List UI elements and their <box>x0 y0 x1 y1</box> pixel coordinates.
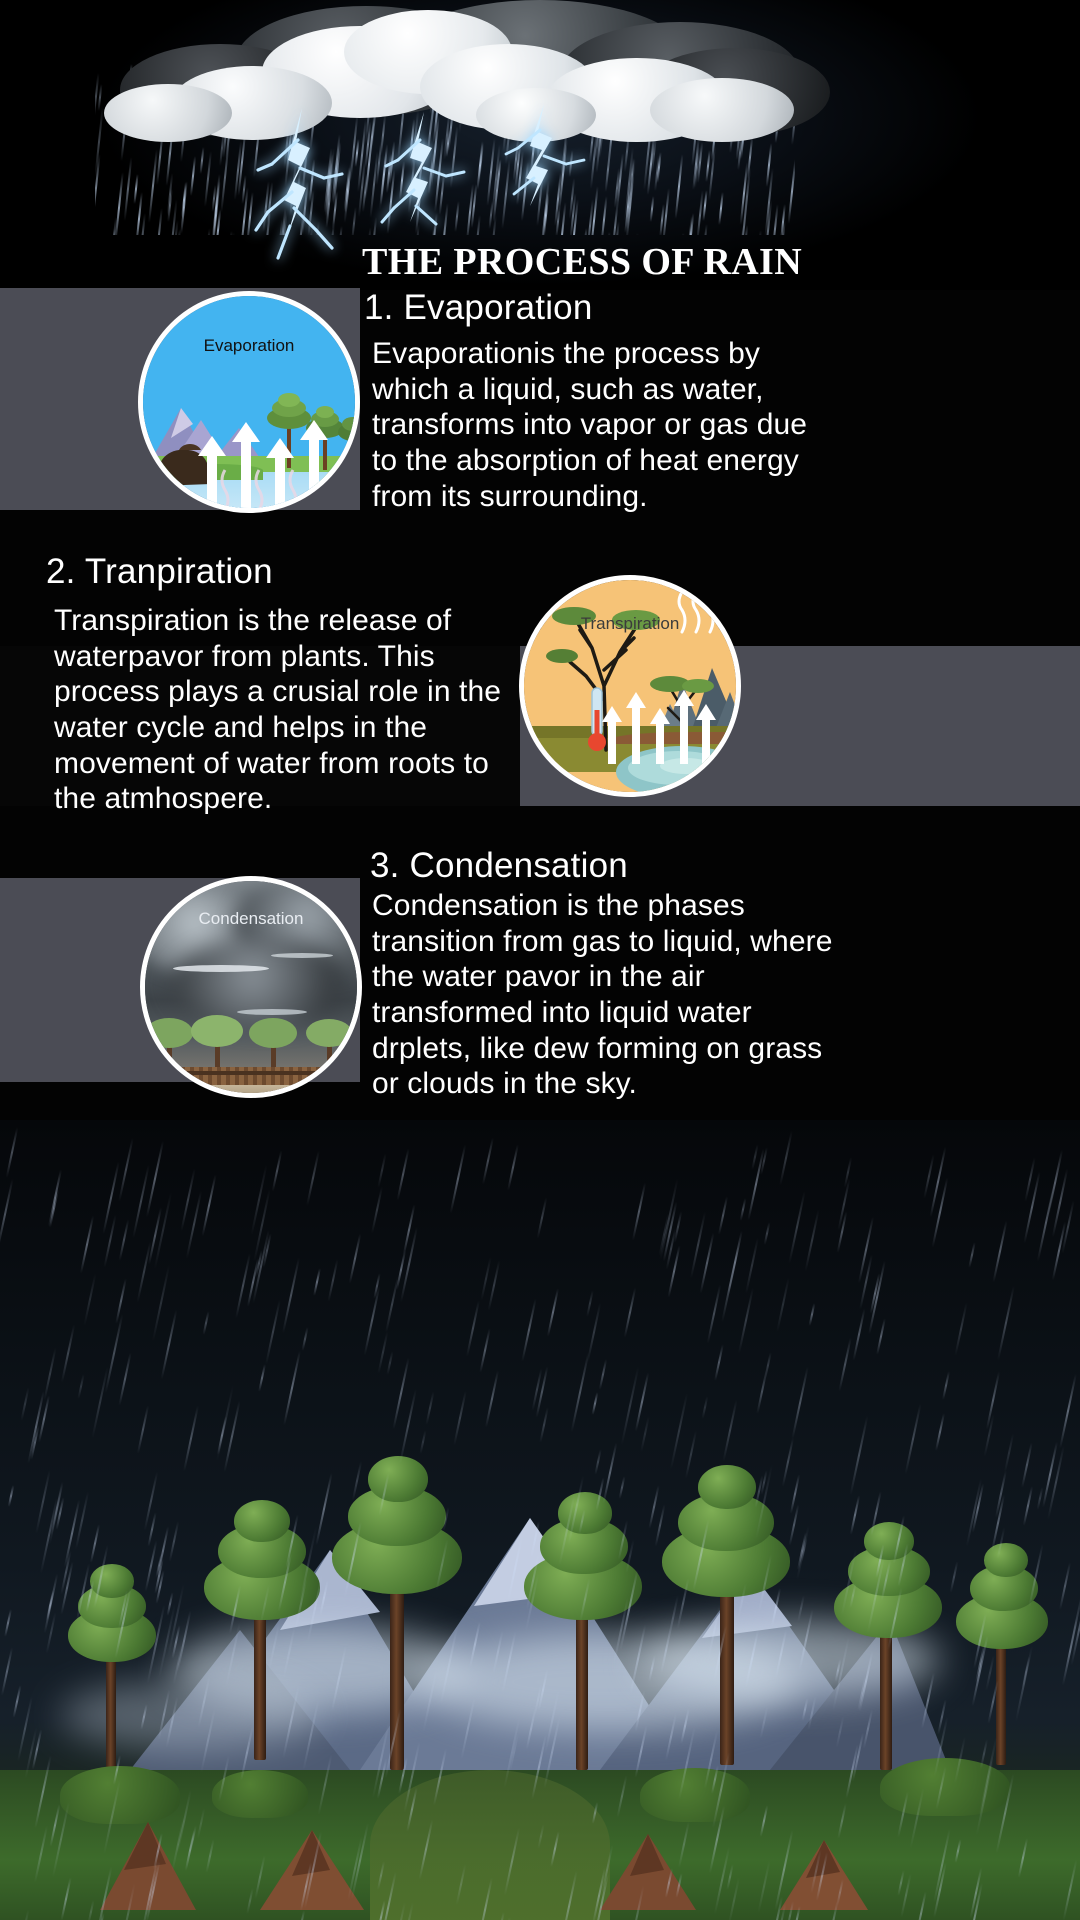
path <box>145 1085 362 1098</box>
lightning-icon <box>500 104 604 222</box>
cloud-white <box>104 84 232 142</box>
transpiration-illustration: Transpiration <box>519 575 741 797</box>
transpiration-circle-label: Transpiration <box>524 614 736 634</box>
poster-canvas: THE PROCESS OF RAIN 1. Evaporation Evapo… <box>0 0 1080 1920</box>
evaporation-circle-label: Evaporation <box>143 336 355 356</box>
section-heading-evaporation: 1. Evaporation <box>364 288 964 328</box>
condensation-illustration: Condensation <box>140 876 362 1098</box>
evaporation-illustration: Evaporation <box>138 291 360 513</box>
section-body-condensation: Condensation is the phases transition fr… <box>372 888 842 1102</box>
tree-line <box>145 1005 362 1073</box>
vapor-arrows <box>195 414 335 513</box>
vapor-arrows <box>600 672 720 764</box>
section-body-evaporation: Evaporationis the process by which a liq… <box>372 336 834 514</box>
cloud-white <box>650 78 794 142</box>
condensation-circle-label: Condensation <box>145 909 357 929</box>
lightning-icon <box>250 108 370 268</box>
page-title: THE PROCESS OF RAIN <box>362 243 982 283</box>
lightning-icon <box>378 112 488 242</box>
section-heading-condensation: 3. Condensation <box>370 846 970 886</box>
fence <box>145 1067 362 1087</box>
forest-rain-group <box>0 1120 1080 1920</box>
fence-rail <box>145 1071 362 1075</box>
cloud-wisp <box>271 953 333 958</box>
forest-scene <box>0 1120 1080 1920</box>
section-body-transpiration: Transpiration is the release of waterpav… <box>54 603 524 817</box>
cloud-wisp <box>173 965 269 972</box>
